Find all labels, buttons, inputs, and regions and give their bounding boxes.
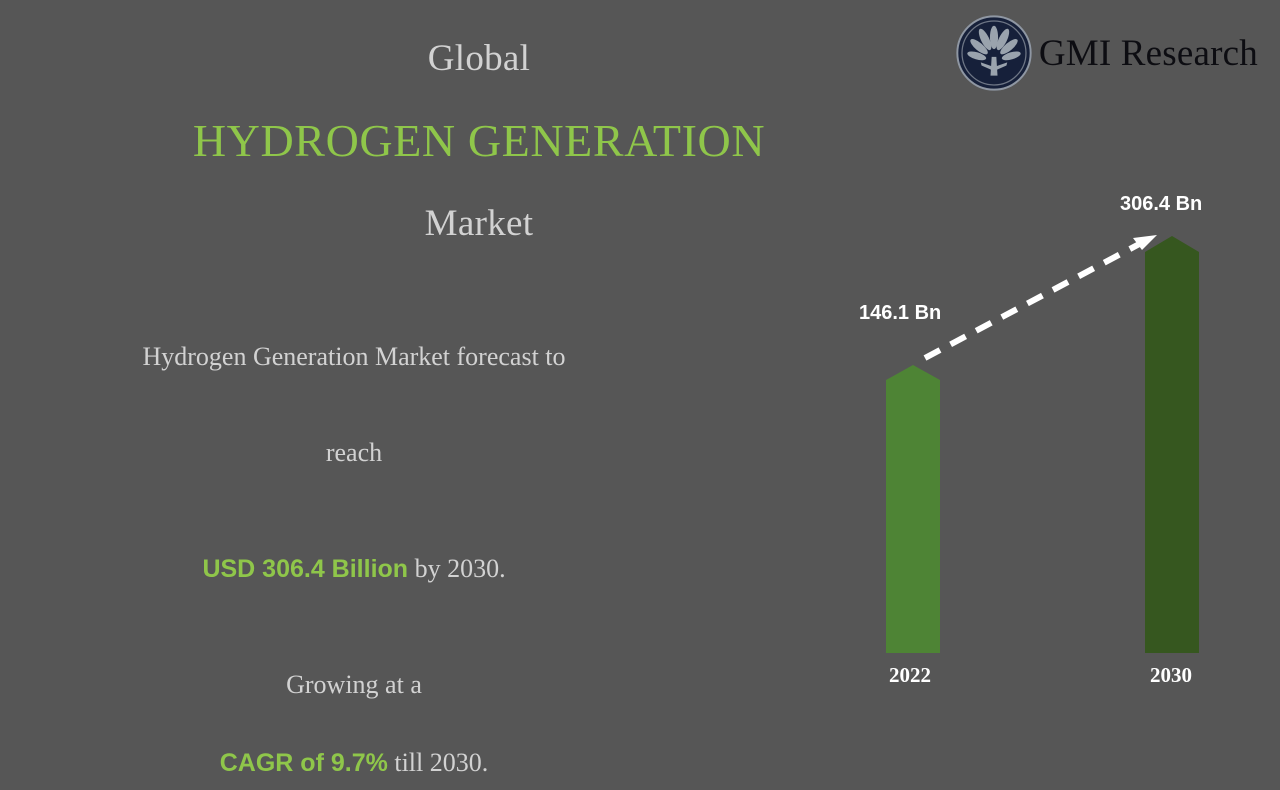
page-title: HYDROGEN GENERATION — [0, 118, 958, 164]
palm-fan-circle-logo-icon — [955, 14, 1033, 92]
headline-block: Global HYDROGEN GENERATION Market — [0, 40, 958, 242]
cagr-rest: till 2030. — [388, 748, 488, 777]
forecast-line-2: reach — [24, 426, 684, 480]
growth-line: Growing at a — [24, 658, 684, 712]
slide-canvas: GMI Research Global HYDROGEN GENERATION … — [0, 0, 1280, 720]
forecast-bar-chart: 146.1 Bn 306.4 Bn 2022 2030 — [830, 170, 1270, 700]
brand-logo: GMI Research — [955, 14, 1258, 92]
brand-name: GMI Research — [1039, 35, 1258, 72]
forecast-line-1: Hydrogen Generation Market forecast to — [24, 330, 684, 384]
forecast-value-line: USD 306.4 Billion by 2030. — [24, 542, 684, 596]
bar-2030 — [1145, 236, 1199, 653]
value-label-2022: 146.1 Bn — [859, 302, 941, 324]
cagr-line: CAGR of 9.7% till 2030. — [24, 736, 684, 790]
growth-arrow-icon — [925, 235, 1157, 358]
headline-kicker: Global — [0, 40, 958, 77]
value-label-2030: 306.4 Bn — [1120, 193, 1202, 215]
summary-copy: Hydrogen Generation Market forecast to r… — [24, 330, 684, 790]
bar-2022 — [886, 365, 940, 653]
headline-suffix: Market — [0, 205, 958, 242]
forecast-value-highlight: USD 306.4 Billion — [202, 555, 408, 583]
category-label-2030: 2030 — [1150, 663, 1192, 687]
forecast-value-rest: by 2030. — [408, 554, 506, 583]
cagr-highlight: CAGR of 9.7% — [220, 749, 388, 777]
category-label-2022: 2022 — [889, 663, 931, 687]
